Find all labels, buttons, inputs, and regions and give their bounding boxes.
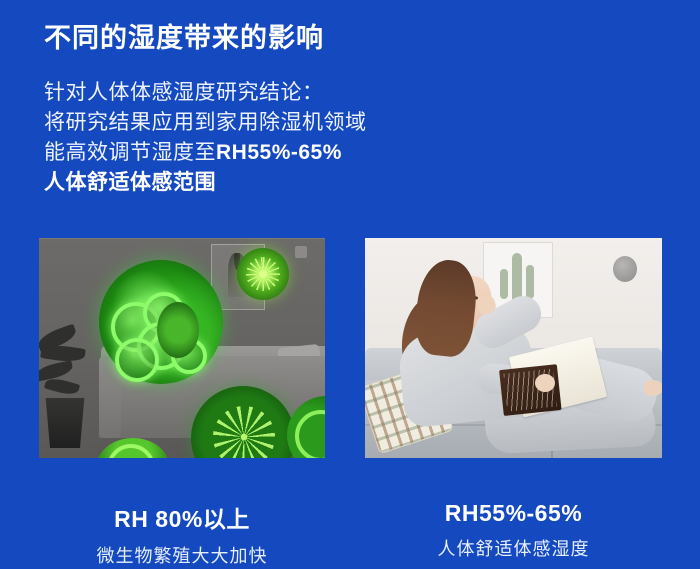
bright-room-scene bbox=[365, 238, 662, 458]
body-line-2: 将研究结果应用到家用除湿机领域 bbox=[44, 108, 367, 138]
microbe-sphere-bottom-left bbox=[97, 438, 169, 458]
cactus-arm bbox=[526, 265, 534, 299]
page-title: 不同的湿度带来的影响 bbox=[44, 16, 324, 55]
plant-pot bbox=[43, 398, 87, 448]
photo-high-humidity bbox=[39, 238, 325, 458]
caption-comfort-humidity: RH55%-65% 人体舒适体感湿度 bbox=[365, 500, 662, 561]
book-cover bbox=[499, 364, 561, 416]
dark-room-scene bbox=[39, 238, 325, 458]
caption-subtitle: 人体舒适体感湿度 bbox=[365, 535, 662, 561]
microbe-blob bbox=[115, 338, 159, 382]
caption-title: RH 80%以上 bbox=[39, 500, 325, 534]
wall-switch bbox=[295, 246, 307, 258]
humidity-infographic-poster: 不同的湿度带来的影响 针对人体体感湿度研究结论： 将研究结果应用到家用除湿机领域… bbox=[0, 0, 700, 569]
body-copy: 针对人体体感湿度研究结论： 将研究结果应用到家用除湿机领域 能高效调节湿度至RH… bbox=[44, 78, 367, 198]
cactus-arm bbox=[500, 269, 508, 299]
woman-foot bbox=[643, 380, 662, 396]
caption-high-humidity: RH 80%以上 微生物繁殖大大加快 bbox=[39, 500, 325, 568]
body-line-3: 能高效调节湿度至RH55%-65% bbox=[44, 138, 367, 168]
body-line-3-regular: 能高效调节湿度至 bbox=[44, 141, 216, 164]
body-line-4: 人体舒适体感范围 bbox=[44, 168, 367, 198]
wall-speaker bbox=[613, 256, 637, 282]
microbe-sphere-edge bbox=[157, 302, 199, 358]
caption-title: RH55%-65% bbox=[365, 500, 662, 527]
photo-comfort-humidity bbox=[365, 238, 662, 458]
wall-trim-line bbox=[39, 238, 325, 239]
body-line-3-highlight: RH55%-65% bbox=[216, 141, 342, 164]
microbe-sphere-small bbox=[237, 248, 289, 300]
woman-hand-holding-book bbox=[535, 374, 555, 392]
plant-leaf bbox=[44, 376, 80, 398]
body-line-1: 针对人体体感湿度研究结论： bbox=[44, 78, 367, 108]
caption-subtitle: 微生物繁殖大大加快 bbox=[39, 542, 325, 568]
